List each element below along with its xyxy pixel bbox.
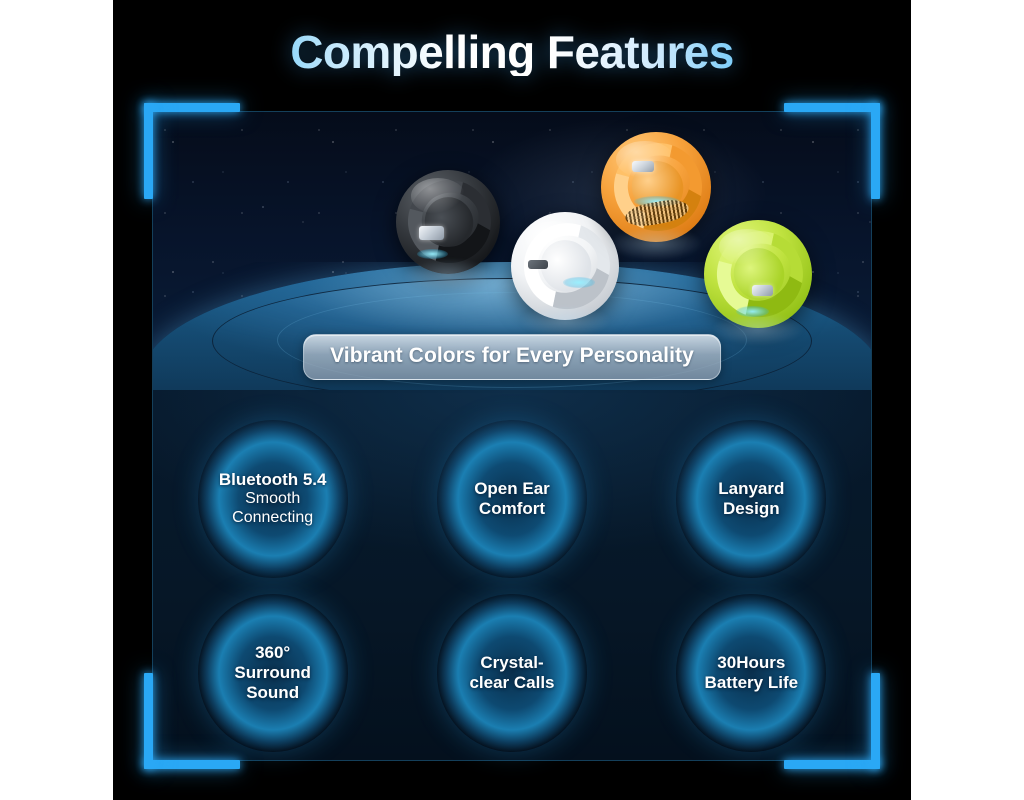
feature-crystal-clear-calls-text: Crystal- clear Calls (463, 653, 560, 693)
earbud-black-body (396, 170, 500, 274)
bracket-bar-horizontal (144, 103, 240, 112)
feature-open-ear-line1: Open Ear (474, 479, 550, 499)
earbud-white (511, 212, 619, 320)
feature-crystal-clear-calls-line1: Crystal- (469, 653, 554, 673)
earbud-black-highlight (411, 178, 465, 213)
bracket-bar-horizontal (784, 760, 880, 769)
feature-surround-sound: 360° Surround Sound (198, 594, 348, 752)
bracket-bar-vertical (871, 103, 880, 199)
earbud-orange-body (601, 132, 711, 242)
earbud-green-body (704, 220, 812, 328)
page-title: Compelling Features (113, 28, 911, 76)
feature-open-ear: Open Ear Comfort (437, 420, 587, 578)
feature-bluetooth-line2: Smooth (219, 490, 327, 509)
image-canvas: Compelling Features (113, 0, 911, 800)
earbud-green-chip (752, 285, 774, 296)
earbud-black-chip (419, 226, 444, 240)
feature-bluetooth-text: Bluetooth 5.4 Smooth Connecting (213, 470, 333, 527)
bracket-bar-vertical (871, 673, 880, 769)
earbud-white-body (511, 212, 619, 320)
framed-scene: Vibrant Colors for Every Personality Blu… (153, 112, 871, 760)
feature-lanyard-line1: Lanyard (718, 479, 784, 499)
tagline-banner: Vibrant Colors for Every Personality (303, 334, 721, 380)
bracket-bar-horizontal (784, 103, 880, 112)
bracket-bar-vertical (144, 103, 153, 199)
bracket-bar-vertical (144, 673, 153, 769)
feature-surround-sound-line3: Sound (234, 683, 311, 703)
feature-battery-life: 30Hours Battery Life (676, 594, 826, 752)
feature-lanyard-line2: Design (718, 499, 784, 519)
feature-surround-sound-line1: 360° (234, 643, 311, 663)
product-feature-graphic: Compelling Features (0, 0, 1024, 800)
feature-open-ear-line2: Comfort (474, 499, 550, 519)
earbud-green (704, 220, 812, 328)
feature-grid: Bluetooth 5.4 Smooth Connecting Open Ear… (153, 412, 871, 760)
earbud-orange-highlight (616, 141, 673, 178)
feature-battery-life-line1: 30Hours (705, 653, 799, 673)
feature-bluetooth-line3: Connecting (219, 509, 327, 528)
feature-bluetooth-line1: Bluetooth 5.4 (219, 470, 327, 490)
earbud-orange (601, 132, 711, 242)
feature-surround-sound-text: 360° Surround Sound (228, 643, 317, 703)
earbud-orange-reflection (610, 227, 702, 260)
feature-lanyard-text: Lanyard Design (712, 479, 790, 519)
feature-surround-sound-line2: Surround (234, 663, 311, 683)
feature-open-ear-text: Open Ear Comfort (468, 479, 556, 519)
feature-lanyard: Lanyard Design (676, 420, 826, 578)
feature-bluetooth: Bluetooth 5.4 Smooth Connecting (198, 420, 348, 578)
earbud-black (396, 170, 500, 274)
bracket-bar-horizontal (144, 760, 240, 769)
earbud-white-chip (528, 260, 547, 270)
feature-battery-life-text: 30Hours Battery Life (699, 653, 805, 693)
feature-crystal-clear-calls-line2: clear Calls (469, 673, 554, 693)
feature-crystal-clear-calls: Crystal- clear Calls (437, 594, 587, 752)
earbud-black-reflection (404, 259, 491, 290)
earbud-white-led (563, 277, 595, 288)
feature-battery-life-line2: Battery Life (705, 673, 799, 693)
